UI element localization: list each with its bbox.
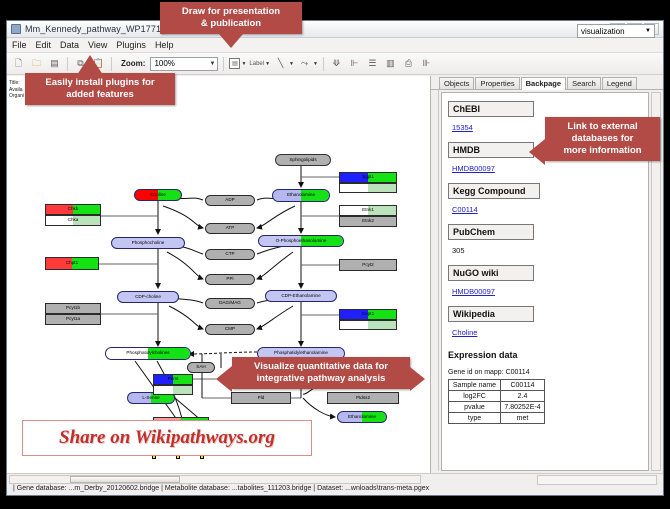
zoom-value: 100%: [154, 59, 174, 68]
interaction-icon[interactable]: ⤳: [297, 56, 312, 71]
distribute-vertical-icon[interactable]: ☰: [365, 56, 380, 71]
node-etnk2[interactable]: Etnk2: [339, 216, 397, 227]
node-sgpl1[interactable]: Sgpl1: [339, 172, 397, 183]
table-cell-key: pvalue: [449, 402, 501, 413]
node-cept1-row2[interactable]: [339, 320, 397, 330]
node-cmp[interactable]: CMP: [205, 324, 255, 335]
node-adp[interactable]: ADP: [205, 195, 255, 206]
table-cell-value: 7.80252E-4: [501, 402, 545, 413]
callout-visualize-line2: integrative pathway analysis: [239, 373, 403, 385]
node-label: Etnk1: [362, 208, 374, 213]
node-fill-right: [368, 321, 396, 329]
callout-visualize-arrow-right: [410, 367, 425, 391]
zoom-combobox[interactable]: 100% ▼: [150, 57, 218, 71]
node-ppi[interactable]: PPi: [205, 274, 255, 285]
node-cdp-choline[interactable]: CDP-choline: [117, 291, 179, 303]
datanode-dropdown[interactable]: ▤ ▼: [229, 58, 246, 69]
chevron-down-icon[interactable]: ▼: [645, 28, 651, 34]
node-label: Pemt: [168, 377, 179, 382]
visualization-value: visualization: [581, 27, 625, 36]
label-dropdown[interactable]: Label ▼: [249, 61, 270, 67]
callout-visualize-line1: Visualize quantitative data for: [239, 361, 403, 373]
tab-properties[interactable]: Properties: [475, 77, 519, 90]
node-label: Sgpl1: [362, 175, 374, 180]
node-sah[interactable]: SAH: [187, 362, 215, 373]
node-pemt-row2[interactable]: [153, 385, 193, 395]
node-label: Chka: [68, 218, 79, 223]
table-cell-key: Sample name: [449, 380, 501, 391]
node-ptdss2[interactable]: Ptdss2: [327, 392, 399, 404]
toolbar-separator: [111, 57, 112, 71]
interaction-dropdown[interactable]: ⤳ ▼: [297, 56, 318, 71]
db-header-kegg-compound: Kegg Compound: [448, 183, 540, 199]
node-choline-top[interactable]: Choline: [134, 189, 182, 201]
callout-draw-arrow: [219, 34, 243, 48]
table-cell-value: C00114: [501, 380, 545, 391]
db-value-pubchem: 305: [452, 246, 465, 255]
tab-objects[interactable]: Objects: [439, 77, 474, 90]
node-label: Phosphatidylethanolamine: [274, 351, 328, 356]
callout-draw-line2: & publication: [167, 18, 295, 30]
table-row: type met: [449, 413, 545, 424]
chevron-down-icon[interactable]: ▼: [265, 61, 270, 67]
align-left-icon[interactable]: ⊩: [347, 56, 362, 71]
app-icon: [11, 24, 21, 34]
node-dagmag[interactable]: DAG/MAG: [205, 298, 255, 309]
table-cell-key: log2FC: [449, 391, 501, 402]
toolbar-separator: [323, 57, 324, 71]
callout-draw: Draw for presentation & publication: [160, 2, 302, 34]
node-label: Pld: [258, 396, 265, 401]
callout-share-text: Share on Wikipathways.org: [59, 427, 275, 449]
save-icon[interactable]: ▤: [47, 56, 62, 71]
menu-edit[interactable]: Edit: [36, 40, 52, 50]
align-top-icon[interactable]: ⟱: [329, 56, 344, 71]
expression-table: Sample name C00114 log2FC 2.4 pvalue 7.8…: [448, 379, 545, 424]
node-pld[interactable]: Pld: [231, 392, 291, 404]
chevron-down-icon[interactable]: ▼: [241, 61, 246, 67]
distribute-horizontal-icon[interactable]: ▥: [383, 56, 398, 71]
stack-icon[interactable]: ⎙: [401, 56, 416, 71]
node-chka[interactable]: Chka: [45, 215, 101, 226]
callout-plugins-line2: added features: [32, 89, 168, 101]
table-cell-key: type: [449, 413, 501, 424]
gene-id-line: Gene id on mapp: C00114: [448, 369, 648, 376]
scrollbar-thumb[interactable]: [70, 476, 180, 483]
toolbar-separator: [67, 57, 68, 71]
line-dropdown[interactable]: ╲ ▼: [273, 56, 294, 71]
callout-links: Link to external databases for more info…: [545, 117, 660, 161]
node-pcyt2[interactable]: Pcyt2: [339, 259, 397, 271]
menu-bar[interactable]: File Edit Data View Plugins Help: [7, 38, 663, 53]
side-panel-divider[interactable]: [432, 90, 439, 471]
callout-plugins-arrow: [77, 55, 103, 75]
node-pcyt1b[interactable]: Pcyt1b: [45, 303, 101, 314]
table-row: Sample name C00114: [449, 380, 545, 391]
menu-file[interactable]: File: [12, 40, 27, 50]
visualization-combobox[interactable]: visualization ▼: [577, 24, 655, 38]
node-sgpl1-row2[interactable]: [339, 183, 397, 193]
node-sphingolipids[interactable]: Sphingolipids: [275, 154, 331, 166]
db-link-chebi[interactable]: 15354: [452, 123, 473, 132]
node-label: CTP: [225, 252, 234, 257]
db-link-nugo-wiki[interactable]: HMDB00097: [452, 287, 495, 296]
callout-plugins: Easily install plugins for added feature…: [25, 73, 175, 105]
callout-draw-line1: Draw for presentation: [167, 6, 295, 18]
pathway-canvas[interactable]: Title: Availa Organi: [7, 76, 431, 473]
zoom-label: Zoom:: [121, 59, 145, 68]
db-header-chebi: ChEBI: [448, 101, 534, 117]
node-label: L-Serine: [142, 396, 159, 401]
node-label: Etnk2: [362, 219, 374, 224]
node-label: Pcyt1b: [66, 306, 80, 311]
node-fill-right: [368, 184, 396, 192]
node-ethanolamine-bottom[interactable]: Ethanolamine: [337, 411, 387, 423]
db-header-nugo-wiki: NuGO wiki: [448, 265, 534, 281]
db-link-hmdb[interactable]: HMDB00097: [452, 164, 495, 173]
node-label: Sphingolipids: [289, 158, 316, 163]
callout-share: Share on Wikipathways.org: [22, 420, 312, 456]
node-label: Cept1: [362, 312, 374, 317]
callout-links-line1: Link to external: [552, 121, 653, 133]
node-label: CDP-choline: [135, 295, 161, 300]
open-folder-icon[interactable]: 🗀: [29, 56, 44, 71]
node-label: CDP-Ethanolamine: [281, 294, 320, 299]
node-label: PPi: [226, 277, 233, 282]
node-label: ATP: [226, 226, 235, 231]
screenshot-root: Mm_Kennedy_pathway_WP1771_45176.gpml – ❐…: [0, 0, 670, 509]
callout-visualize: Visualize quantitative data for integrat…: [232, 357, 410, 389]
expression-data-title: Expression data: [448, 350, 648, 360]
node-ethanolamine-top[interactable]: Ethanolamine: [272, 189, 330, 202]
callout-plugins-line1: Easily install plugins for: [32, 77, 168, 89]
node-label: Pcyt1a: [66, 317, 80, 322]
line-icon[interactable]: ╲: [273, 56, 288, 71]
menu-data[interactable]: Data: [60, 40, 79, 50]
chevron-down-icon[interactable]: ▼: [313, 61, 318, 67]
node-cept1[interactable]: Cept1: [339, 309, 397, 320]
tab-legend[interactable]: Legend: [602, 77, 637, 90]
node-pcyt1a[interactable]: Pcyt1a: [45, 314, 101, 325]
tab-search[interactable]: Search: [567, 77, 601, 90]
table-row: log2FC 2.4: [449, 391, 545, 402]
db-link-kegg-compound[interactable]: C00114: [452, 205, 478, 214]
toolbar-separator: [223, 57, 224, 71]
chevron-down-icon[interactable]: ▼: [209, 61, 215, 67]
side-panel-tabs[interactable]: Objects Properties Backpage Search Legen…: [431, 76, 663, 90]
table-cell-value: met: [501, 413, 545, 424]
node-cdp-ethanolamine[interactable]: CDP-Ethanolamine: [265, 290, 337, 302]
node-phosphatidylcholines[interactable]: Phosphatidylcholines: [105, 347, 191, 360]
node-ctp[interactable]: CTP: [205, 249, 255, 260]
status-text: | Gene database: ...m_Derby_20120602.bri…: [13, 485, 429, 492]
node-fill-right: [173, 386, 192, 394]
db-header-pubchem: PubChem: [448, 224, 534, 240]
table-row: pvalue 7.80252E-4: [449, 402, 545, 413]
db-header-wikipedia: Wikipedia: [448, 306, 534, 322]
node-label: Ethanolamine: [348, 415, 376, 420]
node-label: Phosphatidylcholines: [126, 351, 169, 356]
node-label: Ethanolamine: [287, 193, 315, 198]
tab-backpage[interactable]: Backpage: [521, 77, 566, 91]
tool-bar[interactable]: 🗋 🗀 ▤ ⧉ 📋 Zoom: 100% ▼ ▤ ▼ Label ▼ ╲: [7, 53, 663, 75]
menu-plugins[interactable]: Plugins: [116, 40, 146, 50]
label-icon[interactable]: Label: [249, 61, 264, 67]
node-label: Ptdss2: [356, 396, 370, 401]
node-o-phosphoethanolamine[interactable]: O-Phosphoethanolamine: [258, 235, 344, 247]
chevron-down-icon[interactable]: ▼: [289, 61, 294, 67]
node-label: DAG/MAG: [219, 301, 241, 306]
db-header-hmdb: HMDB: [448, 142, 534, 158]
title-bar: Mm_Kennedy_pathway_WP1771_45176.gpml – ❐…: [7, 21, 663, 38]
node-label: Phosphocholine: [132, 241, 165, 246]
callout-links-line3: more information: [552, 145, 653, 157]
node-label: Choline: [150, 193, 166, 198]
node-label: ADP: [225, 198, 234, 203]
node-label: Chkb: [68, 207, 79, 212]
status-progress-panel: [537, 475, 657, 485]
new-file-icon[interactable]: 🗋: [11, 56, 26, 71]
node-label: CMP: [225, 327, 235, 332]
pathway-graph[interactable]: Sphingolipids Ethanolamine O-Phosphoetha…: [7, 76, 430, 473]
db-link-wikipedia[interactable]: Choline: [452, 328, 477, 337]
node-label: O-Phosphoethanolamine: [276, 239, 327, 244]
node-chkb[interactable]: Chkb: [45, 204, 101, 215]
table-cell-value: 2.4: [501, 391, 545, 402]
canvas-horizontal-scrollbar[interactable]: [9, 475, 421, 484]
callout-links-line2: databases for: [552, 133, 653, 145]
node-pemt[interactable]: Pemt: [153, 374, 193, 385]
group-icon[interactable]: ⊪: [419, 56, 434, 71]
callout-links-arrow: [529, 139, 545, 165]
status-bar: | Gene database: ...m_Derby_20120602.bri…: [7, 473, 663, 495]
menu-view[interactable]: View: [88, 40, 107, 50]
datanode-icon[interactable]: ▤: [229, 58, 240, 69]
menu-help[interactable]: Help: [155, 40, 174, 50]
node-etnk1[interactable]: Etnk1: [339, 205, 397, 216]
node-label: SAH: [196, 365, 205, 370]
node-phosphocholine[interactable]: Phosphocholine: [111, 237, 185, 249]
node-label: Chpt1: [66, 261, 78, 266]
node-label: Pcyt2: [362, 263, 374, 268]
node-atp[interactable]: ATP: [205, 223, 255, 234]
callout-visualize-arrow-left: [216, 366, 232, 392]
node-chpt1[interactable]: Chpt1: [45, 257, 99, 270]
